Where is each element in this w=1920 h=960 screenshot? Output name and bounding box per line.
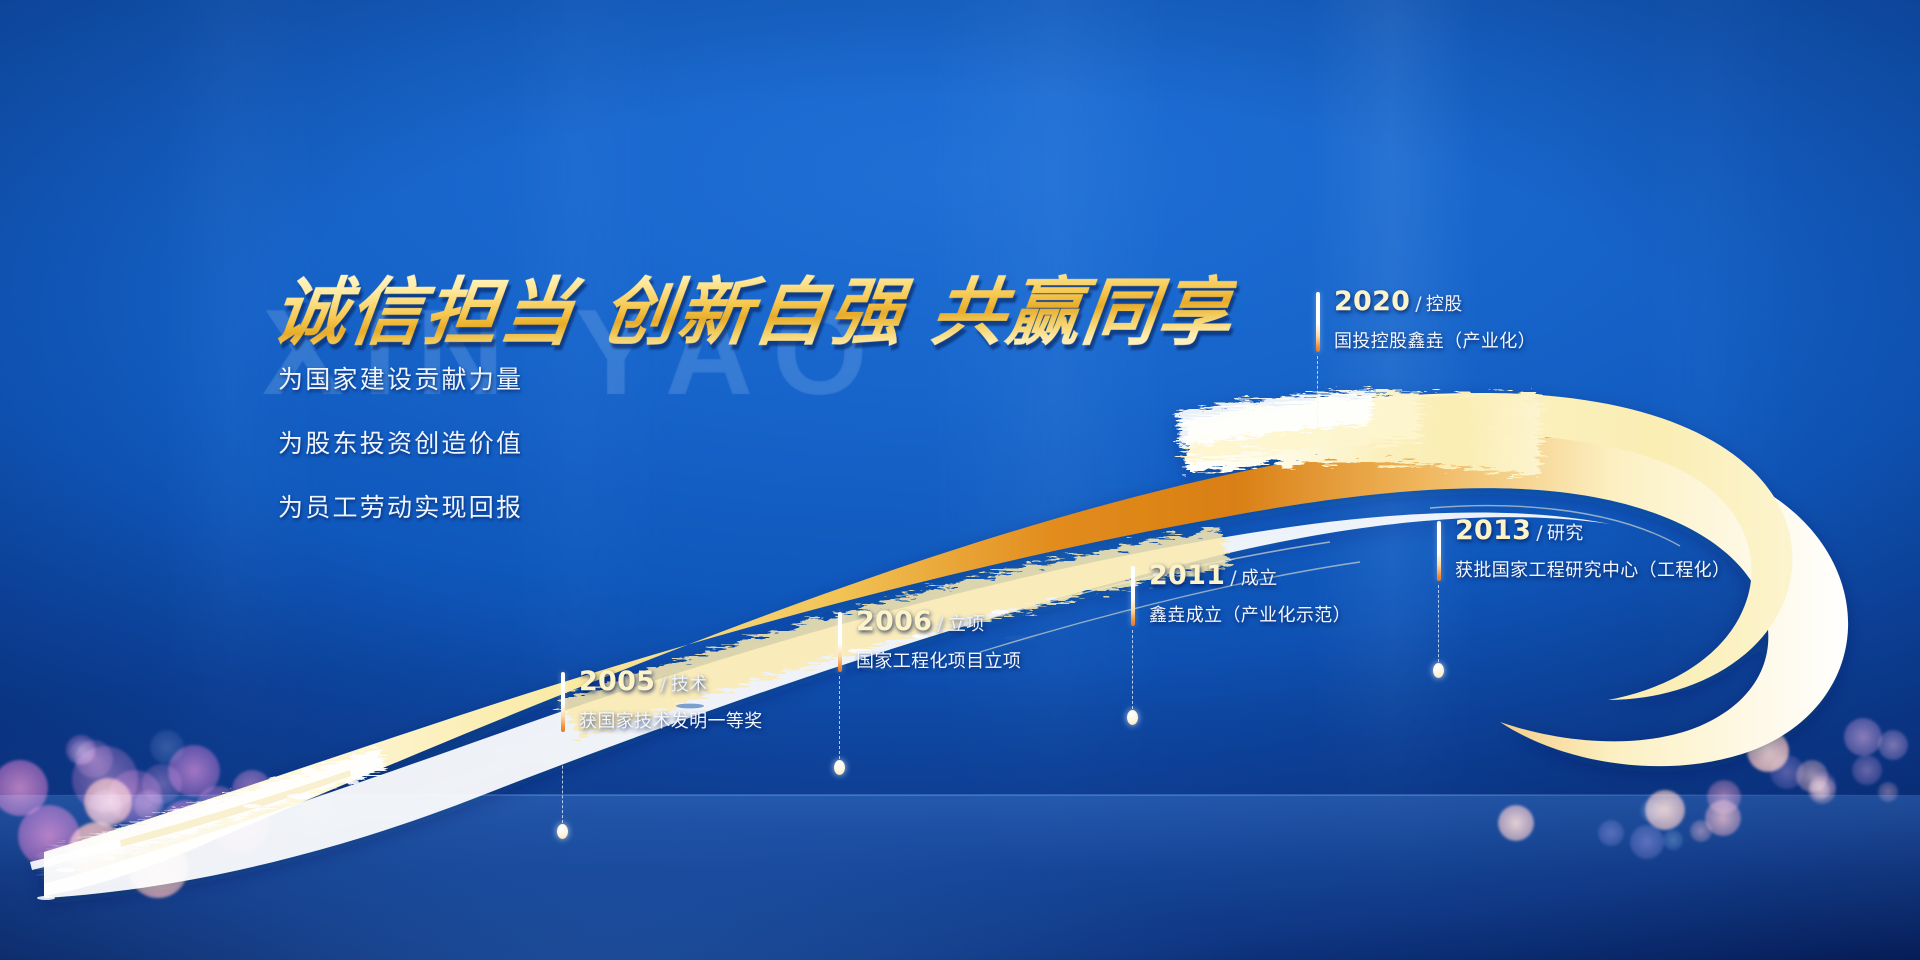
poster-canvas: XIN YAO 诚信担当 创新自强 共赢同享 为国家建设贡献力量 为股东投资创造… — [0, 0, 1920, 960]
milestone-description: 国投控股鑫垚（产业化） — [1334, 327, 1536, 353]
milestone-point — [1433, 663, 1444, 678]
milestone-year: 2006/立项 — [856, 606, 985, 637]
milestone-description: 国家工程化项目立项 — [856, 647, 1021, 673]
bokeh-circle — [1844, 718, 1882, 756]
bokeh-circle — [196, 786, 240, 830]
milestone-leader-line — [562, 736, 563, 828]
hero-subline: 为股东投资创造价值 — [278, 424, 523, 460]
bokeh-circle — [1663, 830, 1683, 850]
milestone-accent-bar — [1437, 521, 1441, 581]
bokeh-circle — [1690, 820, 1712, 842]
bokeh-circle — [170, 818, 198, 846]
bokeh-circle — [1878, 782, 1898, 802]
milestone-point — [1127, 710, 1138, 725]
bokeh-circle — [1630, 825, 1664, 859]
milestone-separator: / — [1531, 522, 1547, 544]
milestone-year-value: 2013 — [1455, 515, 1531, 546]
milestone-leader-line — [1438, 585, 1439, 667]
background-band-divider — [0, 794, 1920, 796]
milestone-point — [834, 760, 845, 775]
milestone-separator: / — [1225, 567, 1241, 589]
hero-subline: 为员工劳动实现回报 — [278, 488, 523, 524]
bokeh-circle — [1598, 820, 1624, 846]
background-lower-band — [0, 795, 1920, 960]
milestone-leader-line — [1317, 356, 1318, 448]
milestone-description: 获批国家工程研究中心（工程化） — [1455, 556, 1730, 582]
milestone-accent-bar — [1131, 566, 1135, 626]
milestone-description: 获国家技术发明一等奖 — [579, 707, 763, 733]
milestone-year-value: 2011 — [1149, 560, 1225, 591]
milestone-year: 2011/成立 — [1149, 560, 1278, 591]
bokeh-circle — [1498, 805, 1534, 841]
milestone-leader-line — [839, 676, 840, 764]
bokeh-circle — [300, 790, 334, 824]
milestone-accent-bar — [838, 612, 842, 672]
hero-subline: 为国家建设贡献力量 — [278, 360, 523, 396]
milestone-category: 技术 — [671, 674, 708, 695]
bokeh-circle — [78, 858, 100, 880]
page-title: 诚信担当 创新自强 共赢同享 — [267, 253, 1240, 360]
milestone-leader-line — [1132, 630, 1133, 714]
milestone-separator: / — [932, 613, 948, 635]
hero-sublines: 为国家建设贡献力量 为股东投资创造价值 为员工劳动实现回报 — [278, 360, 523, 552]
milestone-year: 2013/研究 — [1455, 515, 1584, 546]
milestone-accent-bar — [1316, 292, 1320, 352]
bokeh-circle — [1808, 776, 1836, 804]
milestone-separator: / — [655, 673, 671, 695]
bokeh-circle — [108, 770, 162, 824]
milestone-point — [557, 824, 568, 839]
bokeh-circle — [1852, 755, 1882, 785]
milestone-category: 控股 — [1426, 294, 1463, 315]
milestone-category: 立项 — [948, 614, 985, 635]
milestone-year-value: 2020 — [1334, 286, 1410, 317]
bokeh-circle — [1878, 730, 1908, 760]
milestone-accent-bar — [561, 672, 565, 732]
milestone-description: 鑫垚成立（产业化示范） — [1149, 601, 1351, 627]
milestone-category: 成立 — [1241, 568, 1278, 589]
milestone-category: 研究 — [1547, 523, 1584, 544]
bokeh-circle — [1640, 800, 1662, 822]
milestone-separator: / — [1410, 293, 1426, 315]
milestone-year-value: 2005 — [579, 666, 655, 697]
milestone-year: 2020/控股 — [1334, 286, 1463, 317]
milestone-year: 2005/技术 — [579, 666, 708, 697]
bokeh-circle — [75, 740, 113, 778]
milestone-year-value: 2006 — [856, 606, 932, 637]
